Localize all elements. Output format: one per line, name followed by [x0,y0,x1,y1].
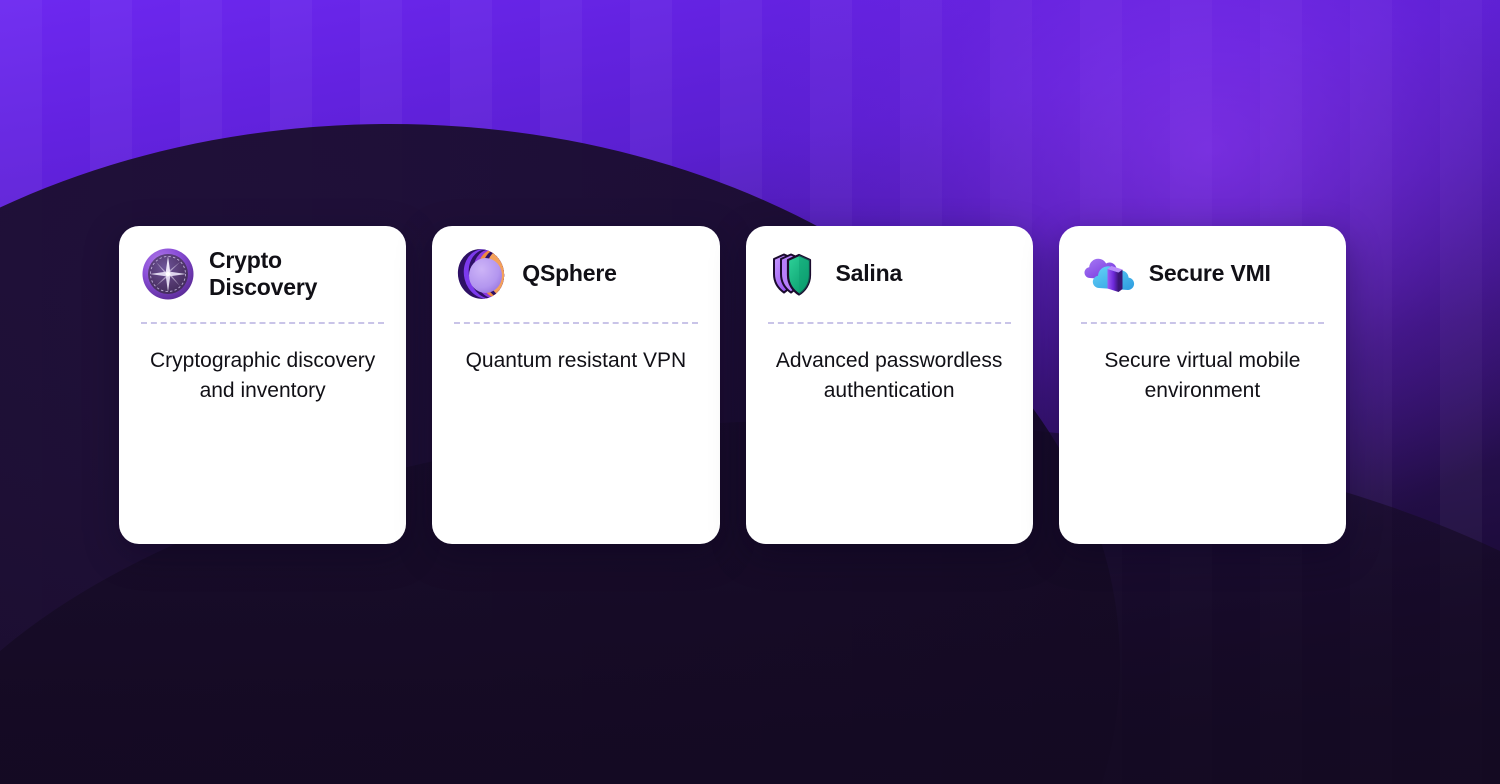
card-header: Salina [746,226,1033,322]
card-header: Secure VMI [1059,226,1346,322]
card-title: Crypto Discovery [209,247,384,301]
card-title: QSphere [522,260,616,287]
card-header: QSphere [432,226,719,322]
card-body: Advanced passwordless authentication [746,324,1033,406]
card-description: Cryptographic discovery and inventory [139,346,386,406]
card-description: Secure virtual mobile environment [1079,346,1326,406]
card-body: Cryptographic discovery and inventory [119,324,406,406]
card-description: Advanced passwordless authentication [766,346,1013,406]
card-title: Salina [836,260,903,287]
card-body: Quantum resistant VPN [432,324,719,376]
secure-vmi-cloud-icon [1081,247,1135,301]
card-title: Secure VMI [1149,260,1271,287]
product-card[interactable]: Salina Advanced passwordless authenticat… [746,226,1033,544]
product-card-list: Crypto Discovery Cryptographic discovery… [119,226,1346,544]
card-header: Crypto Discovery [119,226,406,322]
card-body: Secure virtual mobile environment [1059,324,1346,406]
crypto-discovery-icon [141,247,195,301]
salina-shield-icon [768,247,822,301]
product-card[interactable]: Secure VMI Secure virtual mobile environ… [1059,226,1346,544]
card-description: Quantum resistant VPN [452,346,699,376]
product-cards-hero: Crypto Discovery Cryptographic discovery… [0,0,1500,784]
qsphere-icon [454,247,508,301]
product-card[interactable]: QSphere Quantum resistant VPN [432,226,719,544]
product-card[interactable]: Crypto Discovery Cryptographic discovery… [119,226,406,544]
